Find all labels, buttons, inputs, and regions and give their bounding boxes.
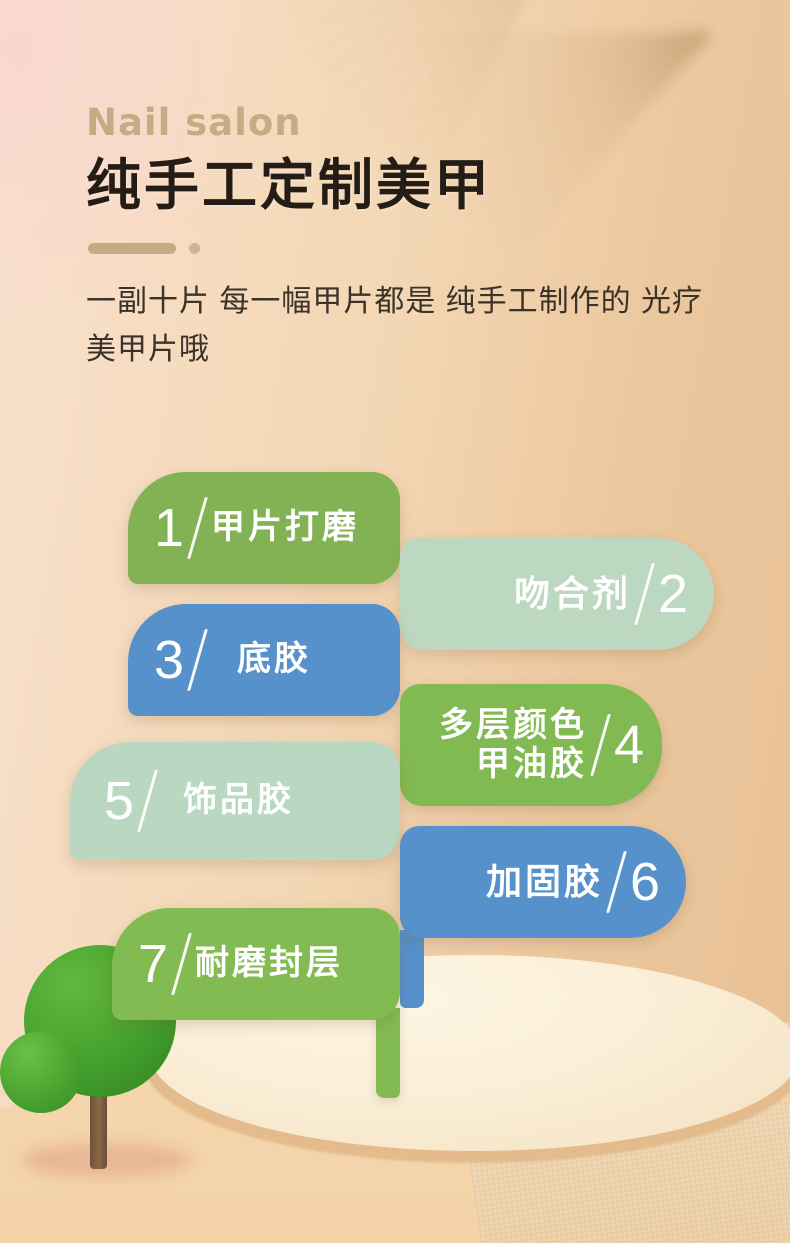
- slash-divider-icon: [634, 563, 655, 625]
- bubble-tail-7: [376, 1008, 400, 1098]
- step-bubble-7[interactable]: 7 耐磨封层: [112, 908, 400, 1020]
- slash-divider-icon: [187, 497, 208, 559]
- step-bubble-6[interactable]: 加固胶 6: [400, 826, 686, 938]
- steps-list: 1 甲片打磨 吻合剂 2 3 底胶 多层颜色 甲油胶 4: [0, 0, 790, 1243]
- step-bubble-4[interactable]: 多层颜色 甲油胶 4: [400, 684, 662, 806]
- step-number-3: 3: [154, 633, 184, 687]
- step-label-3: 底胶: [237, 640, 311, 679]
- step-number-2: 2: [658, 567, 688, 621]
- step-bubble-3[interactable]: 3 底胶: [128, 604, 400, 716]
- slash-divider-icon: [137, 770, 158, 832]
- step-label-6: 加固胶: [486, 861, 603, 903]
- step-bubble-2[interactable]: 吻合剂 2: [400, 538, 714, 650]
- step-bubble-5[interactable]: 5 饰品胶: [70, 742, 400, 860]
- step-number-1: 1: [154, 501, 184, 555]
- step-number-5: 5: [104, 774, 134, 828]
- slash-divider-icon: [171, 933, 192, 995]
- step-label-2: 吻合剂: [514, 573, 631, 615]
- slash-divider-icon: [187, 629, 208, 691]
- step-bubble-1[interactable]: 1 甲片打磨: [128, 472, 400, 584]
- step-label-7: 耐磨封层: [195, 944, 343, 983]
- step-number-6: 6: [630, 855, 660, 909]
- step-label-1: 甲片打磨: [211, 508, 359, 547]
- poster-canvas: Nail salon 纯手工定制美甲 一副十片 每一幅甲片都是 纯手工制作的 光…: [0, 0, 790, 1243]
- slash-divider-icon: [590, 714, 611, 776]
- step-number-7: 7: [138, 937, 168, 991]
- slash-divider-icon: [606, 851, 627, 913]
- step-number-4: 4: [614, 718, 644, 772]
- step-label-4: 多层颜色 甲油胶: [439, 706, 587, 785]
- bubble-tail-6: [400, 930, 424, 1008]
- step-label-5: 饰品胶: [183, 781, 294, 820]
